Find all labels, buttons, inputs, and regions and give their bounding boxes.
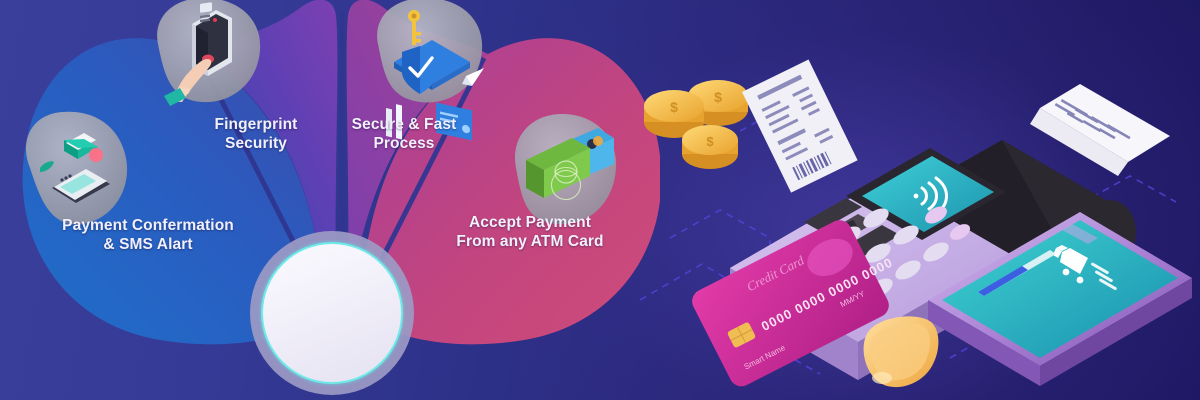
isometric-payment-scene: $ $ $	[610, 0, 1200, 400]
receipt-printing	[1030, 84, 1170, 176]
fan-diagram: Payment Confermation & SMS Alart Fingerp…	[0, 0, 660, 388]
svg-text:$: $	[714, 89, 722, 105]
banner-root: Payment Confermation & SMS Alart Fingerp…	[0, 0, 1200, 400]
svg-text:$: $	[670, 99, 678, 115]
coin-stack: $ $ $	[644, 80, 748, 169]
shield-badge	[864, 316, 939, 387]
svg-text:$: $	[706, 134, 714, 149]
receipt-slip	[742, 60, 858, 193]
center-hub-circle[interactable]	[250, 231, 414, 395]
